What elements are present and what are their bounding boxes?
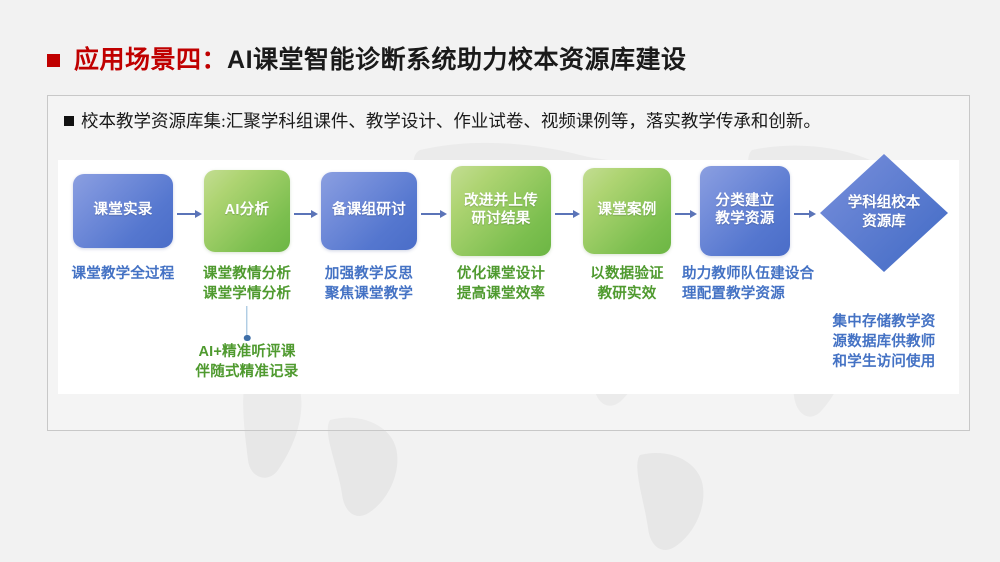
flow-node-ai-analysis[interactable]: AI分析 — [204, 170, 290, 252]
flow-node-lesson-prep-discussion[interactable]: 备课组研讨 — [321, 172, 417, 250]
caption-connector-line — [217, 306, 277, 338]
arrow-shaft — [794, 213, 809, 215]
subtitle-text: 校本教学资源库集:汇聚学科组课件、教学设计、作业试卷、视频课例等，落实教学传承和… — [81, 108, 821, 133]
page-title: 应用场景四：AI课堂智能诊断系统助力校本资源库建设 — [47, 40, 687, 76]
arrow-shaft — [421, 213, 440, 215]
arrow-shaft — [555, 213, 573, 215]
caption-line2: 课堂学情分析 — [203, 286, 291, 302]
arrow-shaft — [177, 213, 195, 215]
flow-node-label-line1: 学科组校本 — [848, 195, 921, 211]
flow-node-classroom-record[interactable]: 课堂实录 — [73, 174, 173, 248]
arrow-head-icon — [311, 210, 318, 218]
title-bullet-icon — [47, 54, 60, 67]
flow-arrow-5 — [675, 208, 697, 220]
subtitle-bullet-icon — [64, 116, 74, 126]
content-panel: 校本教学资源库集:汇聚学科组课件、教学设计、作业试卷、视频课例等，落实教学传承和… — [47, 95, 970, 431]
arrow-head-icon — [809, 210, 816, 218]
caption-line2: 聚焦课堂教学 — [325, 286, 413, 302]
flow-arrow-4 — [555, 208, 580, 220]
flow-node-classify-resources[interactable]: 分类建立教学资源 — [700, 166, 790, 256]
title-rest: AI课堂智能诊断系统助力校本资源库建设 — [227, 46, 687, 74]
flow-node-label: AI分析 — [225, 202, 270, 220]
caption-line1: 集中存储教学资 — [833, 314, 936, 330]
caption-line2: 伴随式精准记录 — [196, 364, 299, 380]
flow-node-label: 分类建立教学资源 — [715, 193, 774, 228]
flow-arrow-3 — [421, 208, 447, 220]
caption-line1: 助力教师队伍建设合 — [682, 266, 814, 282]
title-highlight: 应用场景四： — [74, 46, 227, 74]
caption-classify-resources: 助力教师队伍建设合 理配置教学资源 — [682, 264, 832, 304]
arrow-head-icon — [440, 210, 447, 218]
caption-ai-analysis: 课堂教情分析 课堂学情分析 — [187, 264, 307, 304]
caption-classroom-case: 以数据验证 教研实效 — [576, 264, 678, 304]
caption-line1: 课堂教学全过程 — [72, 266, 175, 282]
arrow-shaft — [294, 213, 311, 215]
flow-node-label-line2: 研讨结果 — [471, 211, 530, 227]
caption-improve-upload: 优化课堂设计 提高课堂效率 — [441, 264, 561, 304]
arrow-head-icon — [573, 210, 580, 218]
flow-arrow-2 — [294, 208, 318, 220]
caption-line2: 提高课堂效率 — [457, 286, 545, 302]
flow-node-label: 课堂案例 — [597, 202, 656, 220]
caption-line1: AI+精准听评课 — [198, 344, 295, 360]
caption-classroom-record: 课堂教学全过程 — [63, 264, 183, 284]
connector-line — [246, 306, 247, 338]
caption-line3: 和学生访问使用 — [833, 354, 936, 370]
caption-line1: 加强教学反思 — [325, 266, 413, 282]
connector-dot-icon — [244, 335, 251, 342]
flow-node-label: 改进并上传研讨结果 — [464, 193, 538, 228]
caption-school-resource-library: 集中存储教学资 源数据库供教师 和学生访问使用 — [814, 312, 954, 372]
flow-node-school-resource-library[interactable]: 学科组校本资源库 — [820, 154, 948, 272]
caption-line2: 理配置教学资源 — [682, 286, 785, 302]
flow-arrow-6 — [794, 208, 816, 220]
flow-node-improve-upload[interactable]: 改进并上传研讨结果 — [451, 166, 551, 256]
flow-arrow-1 — [177, 208, 202, 220]
caption-line2: 源数据库供教师 — [833, 334, 936, 350]
flow-node-label-line2: 教学资源 — [715, 211, 774, 227]
flow-node-classroom-case[interactable]: 课堂案例 — [583, 168, 671, 254]
flow-node-label-line2: 资源库 — [862, 214, 906, 230]
arrow-head-icon — [690, 210, 697, 218]
title-text-wrapper: 应用场景四：AI课堂智能诊断系统助力校本资源库建设 — [74, 40, 687, 76]
caption-ai-precise-listening: AI+精准听评课 伴随式精准记录 — [187, 342, 307, 382]
caption-lesson-prep-discussion: 加强教学反思 聚焦课堂教学 — [309, 264, 429, 304]
flow-node-label: 学科组校本资源库 — [820, 154, 948, 272]
flow-node-label-line1: 分类建立 — [715, 193, 774, 209]
caption-line1: 以数据验证 — [590, 266, 664, 282]
caption-line1: 优化课堂设计 — [457, 266, 545, 282]
caption-line2: 教研实效 — [598, 286, 657, 302]
arrow-head-icon — [195, 210, 202, 218]
caption-line1: 课堂教情分析 — [203, 266, 291, 282]
process-flow: 课堂实录 AI分析 备课组研讨 — [58, 160, 959, 394]
diagram-panel: 课堂实录 AI分析 备课组研讨 — [58, 160, 959, 394]
flow-node-label: 课堂实录 — [93, 202, 152, 220]
arrow-shaft — [675, 213, 690, 215]
flow-node-label: 备课组研讨 — [332, 202, 406, 220]
flow-node-label-line1: 改进并上传 — [464, 193, 538, 209]
subtitle-row: 校本教学资源库集:汇聚学科组课件、教学设计、作业试卷、视频课例等，落实教学传承和… — [64, 108, 821, 133]
